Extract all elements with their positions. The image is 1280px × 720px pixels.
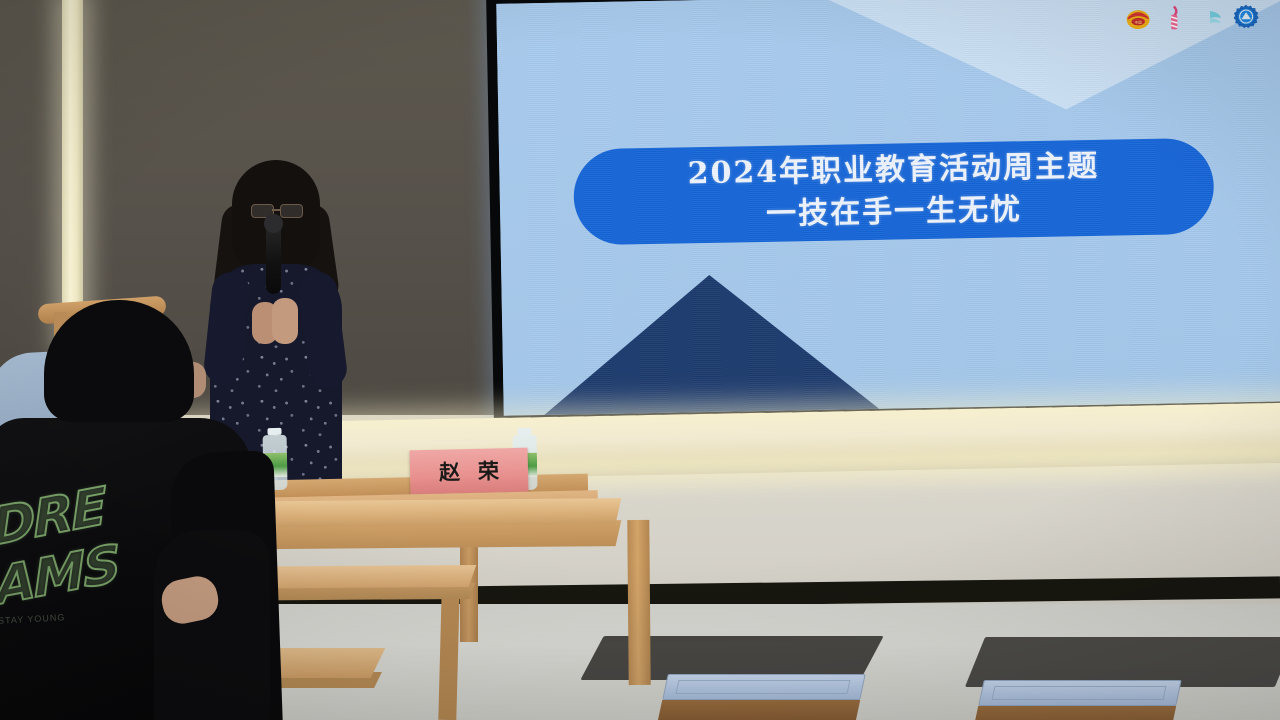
projection-screen: 中国 (496, 0, 1280, 416)
table-leg-right (627, 520, 650, 685)
photo-scene: 中国 (0, 0, 1280, 720)
attendee-arm (154, 530, 270, 720)
stool-side (656, 700, 860, 720)
screen-scanline-texture (496, 0, 1280, 416)
vertical-led-light-strip (62, 0, 83, 345)
foreground-attendee: DRE AMS STAY YOUNG (0, 300, 276, 720)
name-plate-surname: 赵 (439, 456, 461, 486)
presenter-glasses-bridge (272, 209, 280, 211)
presenter-glasses-right-lens (280, 204, 303, 218)
stool-top (978, 680, 1182, 706)
stool-top (662, 674, 866, 700)
stool-side (972, 706, 1176, 720)
name-plate-given-name: 荣 (478, 455, 500, 485)
attendee-hair (44, 300, 194, 422)
stool-right-2 (972, 680, 1181, 720)
stool-top-inset (991, 686, 1166, 700)
projection-screen-bezel: 中国 (486, 0, 1280, 430)
stool-top-inset (675, 680, 850, 694)
bench-leg-right (438, 590, 459, 720)
stool-right-1 (656, 674, 865, 720)
name-plate: 赵 荣 (410, 448, 529, 495)
microphone-head (264, 214, 283, 233)
